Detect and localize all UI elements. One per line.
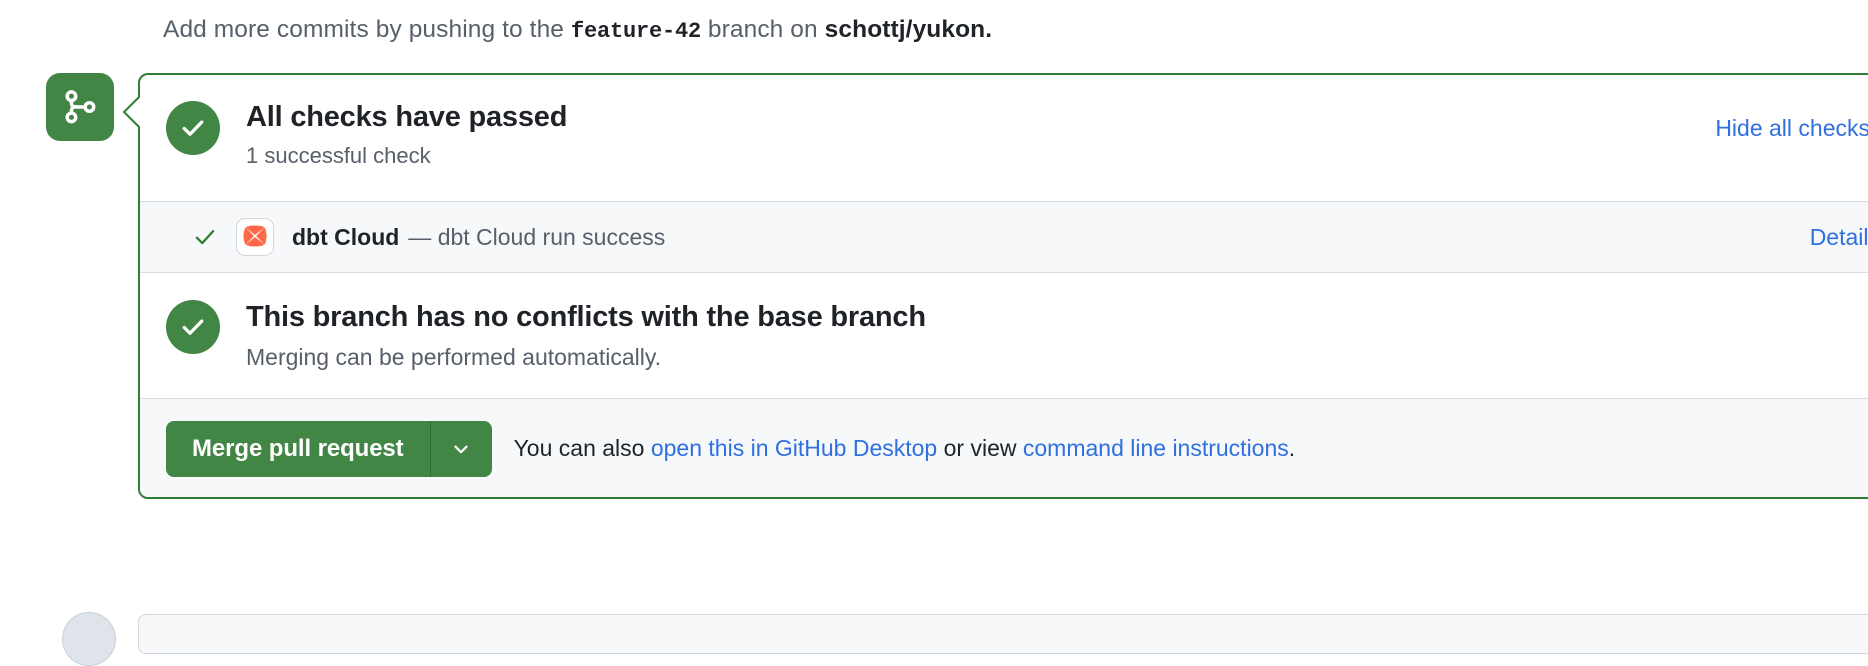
dbt-logo-icon xyxy=(236,218,274,256)
merge-options-dropdown-button[interactable] xyxy=(430,421,492,477)
merge-box: All checks have passed 1 successful chec… xyxy=(138,73,1868,499)
avatar xyxy=(62,612,116,666)
check-circle-icon xyxy=(166,101,220,155)
check-description: — dbt Cloud run success xyxy=(408,224,665,251)
next-timeline-box xyxy=(138,614,1868,654)
push-hint-middle: branch on xyxy=(701,16,825,43)
checks-subtitle: 1 successful check xyxy=(246,142,1715,170)
push-hint-prefix: Add more commits by pushing to the xyxy=(163,16,571,43)
merge-box-notch xyxy=(122,94,140,128)
checks-title: All checks have passed xyxy=(246,99,1715,135)
checks-header-text: All checks have passed 1 successful chec… xyxy=(246,99,1715,170)
conflicts-text: This branch has no conflicts with the ba… xyxy=(246,299,926,371)
branch-name: feature-42 xyxy=(571,19,701,44)
chevron-down-icon xyxy=(450,438,472,460)
git-merge-badge xyxy=(46,73,114,141)
footer-note-middle: or view xyxy=(937,435,1023,461)
check-details-link[interactable]: Details xyxy=(1810,224,1868,251)
conflicts-section: This branch has no conflicts with the ba… xyxy=(140,273,1868,399)
conflicts-title: This branch has no conflicts with the ba… xyxy=(246,299,926,335)
check-icon xyxy=(192,224,222,250)
merge-split-button[interactable]: Merge pull request xyxy=(166,421,492,477)
hide-all-checks-link[interactable]: Hide all checks xyxy=(1715,113,1868,143)
check-row[interactable]: dbt Cloud — dbt Cloud run success Detail… xyxy=(140,201,1868,273)
repository-name: schottj/yukon xyxy=(825,16,986,43)
footer-note-prefix: You can also xyxy=(514,435,651,461)
check-separator: — xyxy=(408,224,431,250)
merge-footer-note: You can also open this in GitHub Desktop… xyxy=(514,435,1296,462)
push-commits-hint: Add more commits by pushing to the featu… xyxy=(163,14,992,48)
git-merge-icon xyxy=(62,89,98,125)
check-app-name: dbt Cloud xyxy=(292,224,399,251)
github-desktop-link[interactable]: open this in GitHub Desktop xyxy=(651,435,937,461)
footer-note-suffix: . xyxy=(1289,435,1295,461)
pull-request-merge-section: Add more commits by pushing to the featu… xyxy=(0,0,1868,626)
push-hint-suffix: . xyxy=(985,16,992,43)
checks-header: All checks have passed 1 successful chec… xyxy=(140,75,1868,201)
check-description-text: dbt Cloud run success xyxy=(438,224,666,250)
conflicts-subtitle: Merging can be performed automatically. xyxy=(246,343,926,371)
merge-pull-request-button[interactable]: Merge pull request xyxy=(166,421,430,477)
merge-footer: Merge pull request You can also open thi… xyxy=(140,399,1868,498)
command-line-instructions-link[interactable]: command line instructions xyxy=(1023,435,1289,461)
check-circle-icon xyxy=(166,300,220,354)
